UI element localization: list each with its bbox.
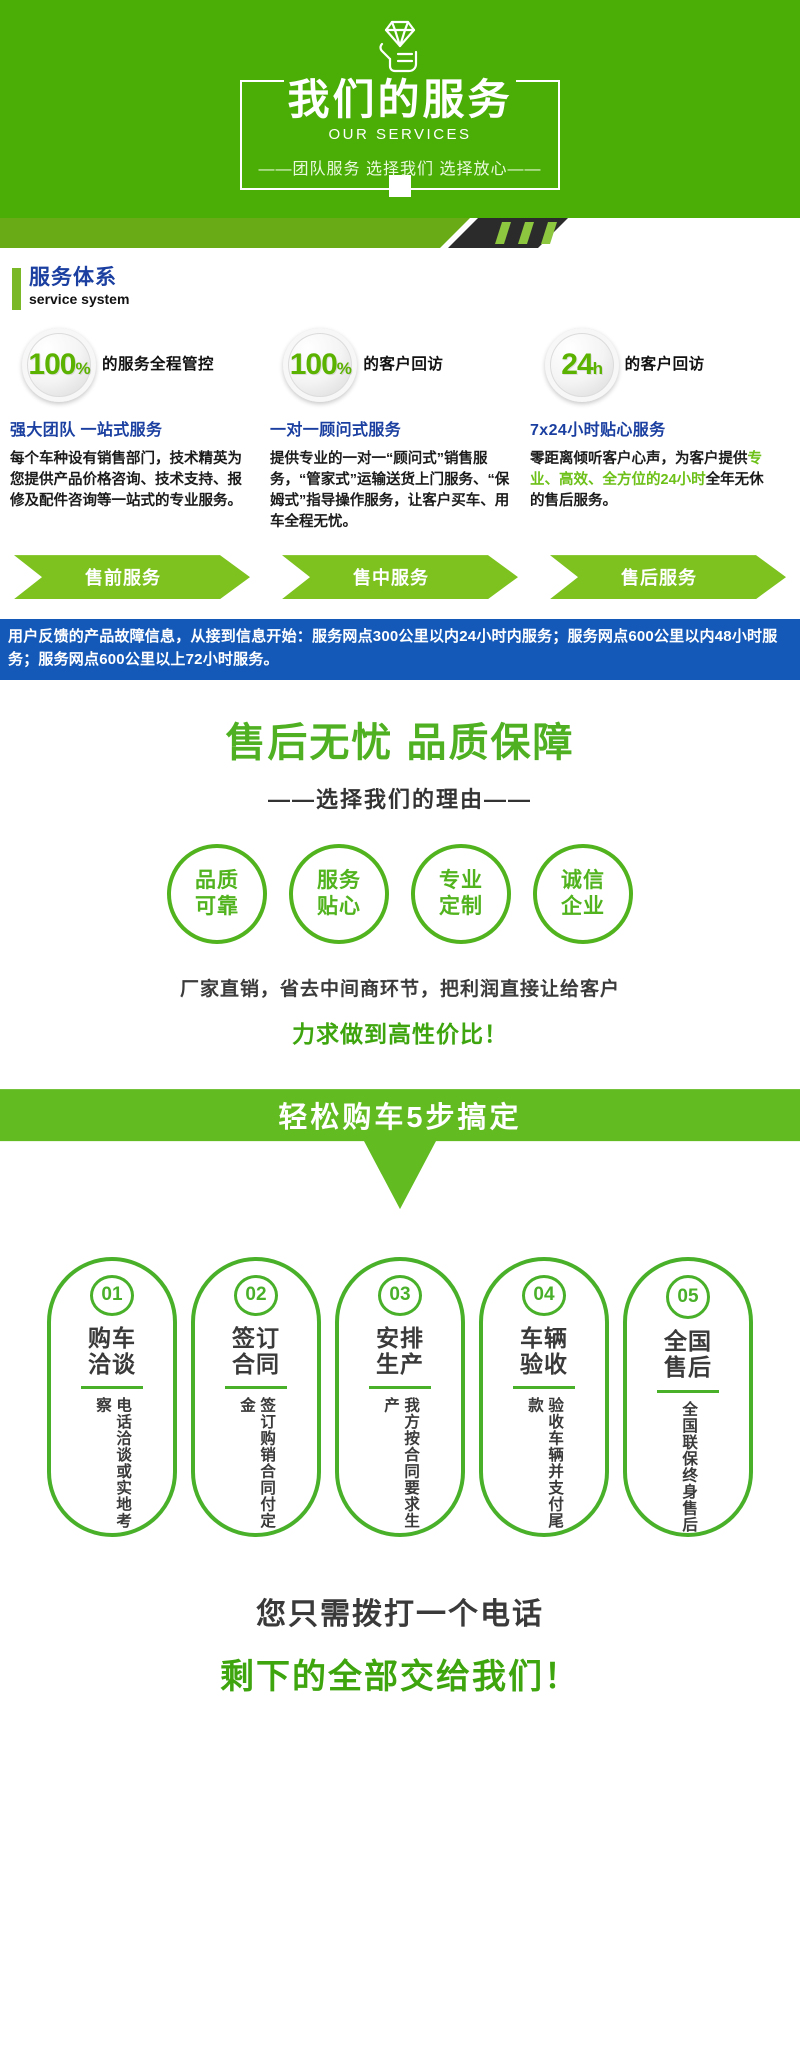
factory-direct-line: 厂家直销，省去中间商环节，把利润直接让给客户 <box>0 974 800 1001</box>
step-description: 电话洽谈或实地考察 <box>92 1397 132 1533</box>
step-title: 签订合同 <box>232 1326 280 1378</box>
badge-item: 100% 的服务全程管控 <box>8 328 269 402</box>
banner-title: 轻松购车5步搞定 <box>0 1094 800 1136</box>
step-description: 我方按合同要求生产 <box>380 1397 420 1533</box>
step-divider <box>513 1386 575 1389</box>
badge-label: 的客户回访 <box>363 356 443 375</box>
process-arrows: 售前服务 售中服务 售后服务 <box>0 555 800 599</box>
step-number: 04 <box>522 1275 566 1316</box>
badge-number: 24h <box>561 350 602 380</box>
diamond-hand-icon <box>368 14 432 78</box>
reason-badge-service: 服务贴心 <box>289 844 389 944</box>
badge-item: 24h 的客户回访 <box>531 328 792 402</box>
service-column: 7x24小时贴心服务 零距离倾听客户心声，为客户提供专业、高效、全方位的24小时… <box>530 416 790 533</box>
arrow-presale[interactable]: 售前服务 <box>14 555 250 599</box>
step-card: 02 签订合同 签订购销合同付定金 <box>191 1257 321 1537</box>
step-number: 03 <box>378 1275 422 1316</box>
section-title-cn: 服务体系 <box>29 266 129 289</box>
page-title: 我们的服务 <box>240 76 560 124</box>
badge-row: 100% 的服务全程管控 100% 的客户回访 24h 的客户回访 <box>0 328 800 402</box>
reason-badge-custom: 专业定制 <box>411 844 511 944</box>
column-body: 每个车种设有销售部门，技术精英为您提供产品价格咨询、技术支持、报修及配件咨询等一… <box>10 449 254 512</box>
steps-banner: 轻松购车5步搞定 <box>0 1089 800 1209</box>
step-description: 全国联保终身售后 <box>678 1401 698 1533</box>
hero-tagline: ——团队服务 选择我们 选择放心—— <box>0 155 800 179</box>
service-system-heading: 服务体系 service system <box>12 266 800 310</box>
column-title: 强大团队 一站式服务 <box>10 416 254 440</box>
page-subtitle: OUR SERVICES <box>240 126 560 143</box>
badge-number: 100% <box>28 350 89 380</box>
hero-section: 我们的服务 OUR SERVICES ——团队服务 选择我们 选择放心—— <box>0 0 800 218</box>
service-column: 一对一顾问式服务 提供专业的一对一“顾问式”销售服务，“管家式”运输送货上门服务… <box>270 416 530 533</box>
value-ratio-line: 力求做到高性价比！ <box>0 1015 800 1049</box>
column-body: 提供专业的一对一“顾问式”销售服务，“管家式”运输送货上门服务、“保姆式”指导操… <box>270 449 514 533</box>
badge-label: 的客户回访 <box>625 356 705 375</box>
step-card: 03 安排生产 我方按合同要求生产 <box>335 1257 465 1537</box>
heading-accent-bar <box>12 268 21 310</box>
badge-circle: 100% <box>283 328 357 402</box>
step-divider <box>81 1386 143 1389</box>
decorative-banner <box>0 218 800 248</box>
step-description: 签订购销合同付定金 <box>236 1397 276 1533</box>
cta-line-1: 您只需拨打一个电话 <box>0 1589 800 1633</box>
step-title: 购车洽谈 <box>88 1326 136 1378</box>
service-column: 强大团队 一站式服务 每个车种设有销售部门，技术精英为您提供产品价格咨询、技术支… <box>10 416 270 533</box>
badge-circle: 24h <box>545 328 619 402</box>
step-card: 04 车辆验收 验收车辆并支付尾款 <box>479 1257 609 1537</box>
section-title-en: service system <box>29 290 129 308</box>
step-title: 全国售后 <box>664 1329 712 1381</box>
reason-badge-integrity: 诚信企业 <box>533 844 633 944</box>
column-title: 7x24小时贴心服务 <box>530 416 774 440</box>
quality-subheading: ——选择我们的理由—— <box>0 782 800 814</box>
column-body: 零距离倾听客户心声，为客户提供专业、高效、全方位的24小时全年无休的售后服务。 <box>530 449 774 512</box>
arrow-midsale[interactable]: 售中服务 <box>282 555 518 599</box>
purchase-steps: 01 购车洽谈 电话洽谈或实地考察 02 签订合同 签订购销合同付定金 03 安… <box>0 1257 800 1537</box>
service-columns: 强大团队 一站式服务 每个车种设有销售部门，技术精英为您提供产品价格咨询、技术支… <box>0 416 800 533</box>
quality-heading: 售后无忧 品质保障 <box>0 710 800 768</box>
step-title: 安排生产 <box>376 1326 424 1378</box>
badge-number: 100% <box>290 350 351 380</box>
step-number: 01 <box>90 1275 134 1316</box>
arrow-aftersale[interactable]: 售后服务 <box>550 555 786 599</box>
decor-green-shape <box>0 218 470 248</box>
step-divider <box>225 1386 287 1389</box>
step-divider <box>369 1386 431 1389</box>
step-card: 05 全国售后 全国联保终身售后 <box>623 1257 753 1537</box>
step-card: 01 购车洽谈 电话洽谈或实地考察 <box>47 1257 177 1537</box>
step-title: 车辆验收 <box>520 1326 568 1378</box>
cta-line-2: 剩下的全部交给我们！ <box>0 1649 800 1698</box>
column-title: 一对一顾问式服务 <box>270 416 514 440</box>
badge-circle: 100% <box>22 328 96 402</box>
badge-item: 100% 的客户回访 <box>269 328 530 402</box>
step-divider <box>657 1390 719 1393</box>
reason-badges: 品质可靠 服务贴心 专业定制 诚信企业 <box>0 844 800 944</box>
badge-label: 的服务全程管控 <box>102 356 214 375</box>
reason-badge-quality: 品质可靠 <box>167 844 267 944</box>
step-description: 验收车辆并支付尾款 <box>524 1397 564 1533</box>
service-notice-banner: 用户反馈的产品故障信息，从接到信息开始：服务网点300公里以内24小时内服务；服… <box>0 619 800 680</box>
step-number: 05 <box>666 1275 710 1319</box>
hero-title-frame: 我们的服务 OUR SERVICES <box>240 80 560 154</box>
step-number: 02 <box>234 1275 278 1316</box>
